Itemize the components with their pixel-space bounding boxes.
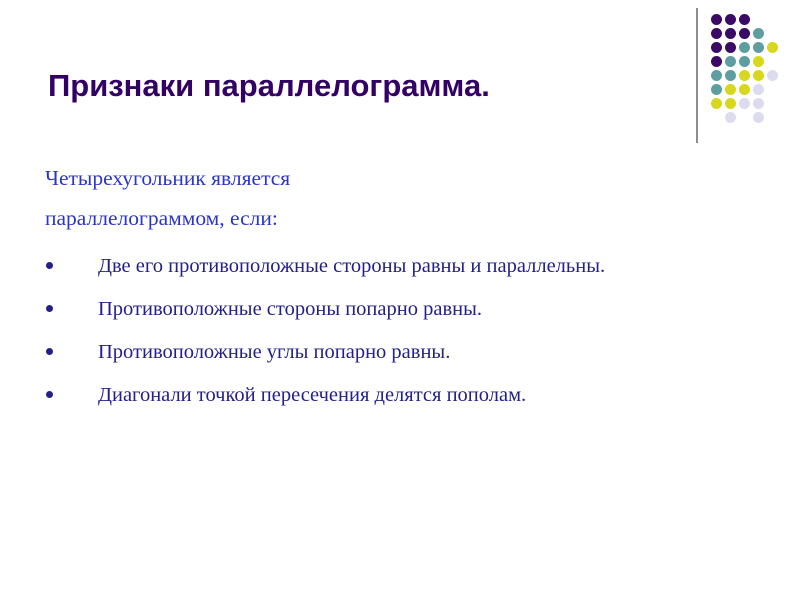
intro-line-1: Четырехугольник является [40,158,760,198]
decorative-dot [753,98,764,109]
dot-grid-decoration [711,14,791,144]
decorative-dot [725,112,736,123]
decorative-dot [739,42,750,53]
decorative-dot [753,112,764,123]
decorative-dot [739,56,750,67]
decorative-dot [739,28,750,39]
decorative-dot [711,42,722,53]
decorative-dot [753,84,764,95]
decorative-dot [711,98,722,109]
list-item-text: Противоположные углы попарно равны. [98,341,450,363]
decorative-dot [753,56,764,67]
list-item: Противоположные стороны попарно равны. [40,295,658,323]
list-item-text: Противоположные стороны попарно равны. [98,298,482,320]
list-item: Две его противоположные стороны равны и … [40,252,658,280]
decorative-dot [753,42,764,53]
bullet-dot-icon [46,391,53,398]
decorative-dot [725,42,736,53]
decorative-dot [711,56,722,67]
decorative-dot [767,70,778,81]
decorative-dot [711,14,722,25]
list-item: Диагонали точкой пересечения делятся поп… [40,381,658,409]
decorative-dot [767,42,778,53]
decorative-dot [753,70,764,81]
decorative-dot [739,84,750,95]
page-title: Признаки параллелограмма. [48,68,668,104]
title-divider-rule [696,8,698,143]
list-item-text: Две его противоположные стороны равны и … [98,255,605,277]
decorative-dot [725,56,736,67]
list-item-text: Диагонали точкой пересечения делятся поп… [98,384,526,406]
intro-line-2: параллелограммом, если: [40,198,760,238]
list-item: Противоположные углы попарно равны. [40,338,658,366]
bullet-dot-icon [46,262,53,269]
decorative-dot [725,70,736,81]
decorative-dot [711,28,722,39]
decorative-dot [739,14,750,25]
decorative-dot [739,70,750,81]
bullet-dot-icon [46,348,53,355]
decorative-dot [739,98,750,109]
decorative-dot [725,28,736,39]
decorative-dot [725,84,736,95]
decorative-dot [725,98,736,109]
criteria-list: Две его противоположные стороны равны и … [40,252,760,409]
decorative-dot [711,84,722,95]
slide-body: Четырехугольник является параллелограммо… [40,158,760,424]
decorative-dot [711,70,722,81]
decorative-dot [753,28,764,39]
bullet-dot-icon [46,305,53,312]
decorative-dot [725,14,736,25]
